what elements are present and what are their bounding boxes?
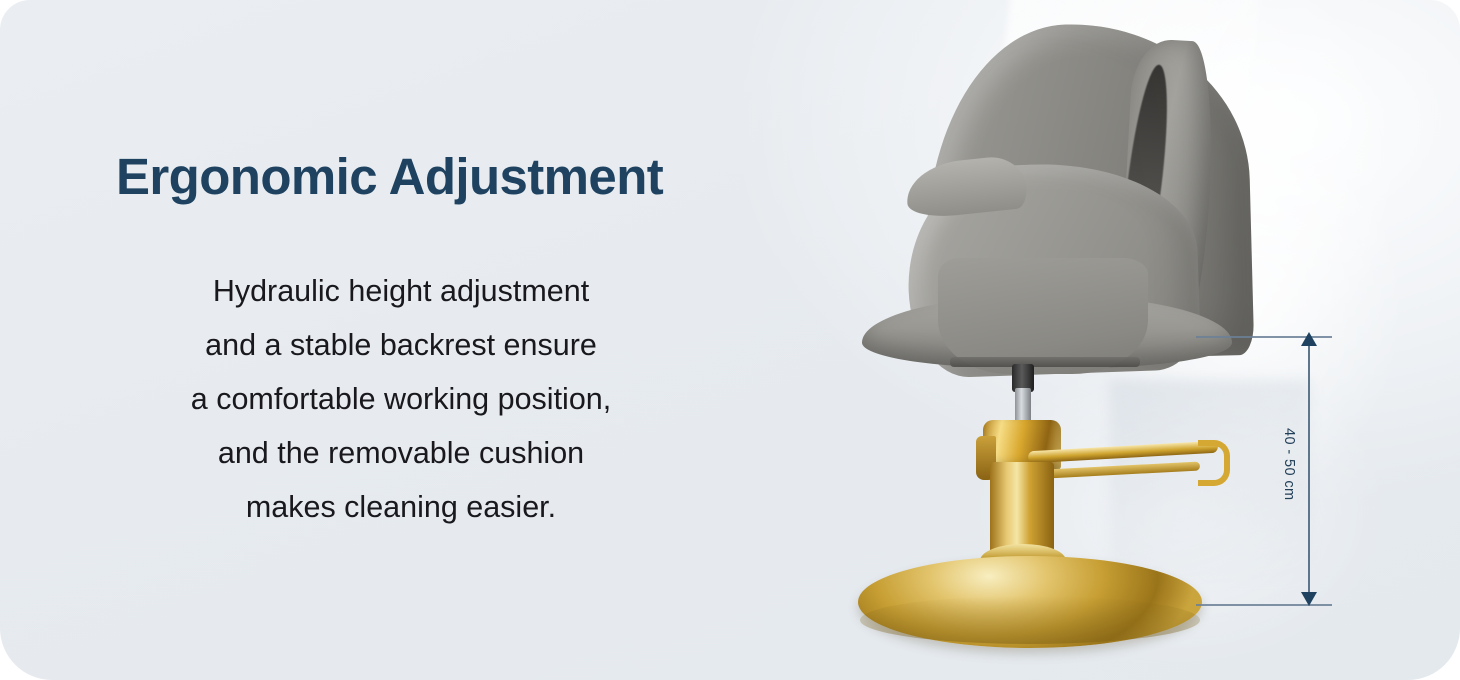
arrow-up-icon <box>1301 332 1317 346</box>
arrow-down-icon <box>1301 592 1317 606</box>
feature-card: Ergonomic Adjustment Hydraulic height ad… <box>0 0 1460 680</box>
page-title: Ergonomic Adjustment <box>116 147 663 206</box>
height-adjust-lever-tip <box>1198 440 1230 486</box>
chair-seat-mount-plate <box>950 357 1140 367</box>
description-line-5: makes cleaning easier. <box>112 480 690 534</box>
description-line-2: and a stable backrest ensure <box>112 318 690 372</box>
chair-base-rim <box>860 596 1200 644</box>
product-image-salon-chair <box>830 0 1300 680</box>
description-line-3: a comfortable working position, <box>112 372 690 426</box>
text-column: Ergonomic Adjustment Hydraulic height ad… <box>0 0 790 680</box>
description-line-4: and the removable cushion <box>112 426 690 480</box>
description-paragraph: Hydraulic height adjustment and a stable… <box>112 264 690 534</box>
description-line-1: Hydraulic height adjustment <box>112 264 690 318</box>
